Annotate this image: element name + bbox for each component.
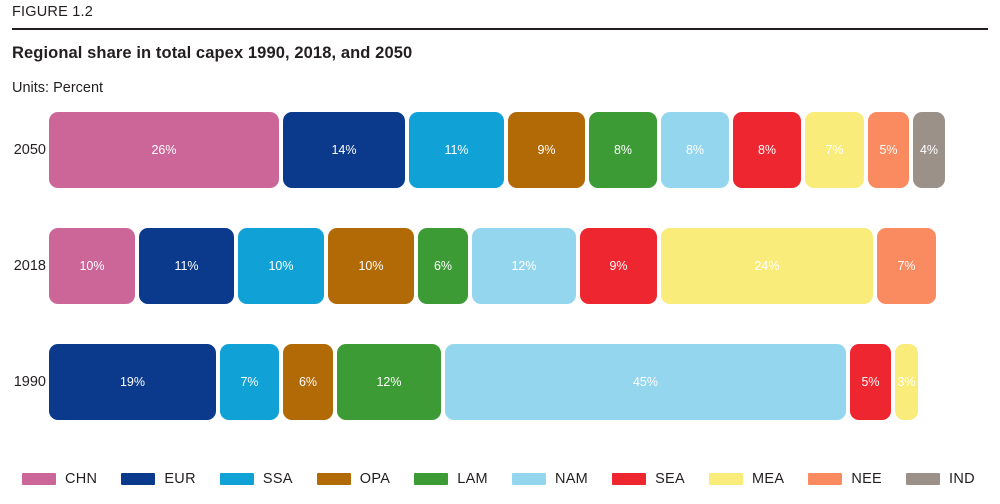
legend-label: NAM — [555, 471, 588, 487]
bar-segment-eur: 11% — [139, 228, 234, 304]
legend-swatch-icon — [808, 473, 842, 485]
legend-label: CHN — [65, 471, 97, 487]
legend-swatch-icon — [121, 473, 155, 485]
legend-label: SEA — [655, 471, 685, 487]
units-label: Units: Percent — [12, 80, 103, 96]
bar-segment-value: 12% — [376, 375, 401, 389]
legend-item-ssa[interactable]: SSA — [220, 471, 293, 487]
legend-item-lam[interactable]: LAM — [414, 471, 488, 487]
bar-segment-value: 26% — [151, 143, 176, 157]
year-label-1990: 1990 — [8, 344, 46, 420]
bar-segment-value: 6% — [299, 375, 317, 389]
bar-segment-value: 24% — [754, 259, 779, 273]
legend-item-eur[interactable]: EUR — [121, 471, 196, 487]
bar-segment-opa: 9% — [508, 112, 585, 188]
legend-label: IND — [949, 471, 975, 487]
bar-segment-lam: 8% — [589, 112, 657, 188]
bar-segment-chn: 26% — [49, 112, 279, 188]
bar-segment-sea: 8% — [733, 112, 801, 188]
legend-item-sea[interactable]: SEA — [612, 471, 685, 487]
bar-segment-value: 14% — [331, 143, 356, 157]
bar-segment-mea: 7% — [805, 112, 864, 188]
legend-swatch-icon — [220, 473, 254, 485]
bar-segment-value: 10% — [268, 259, 293, 273]
bar-segment-ind: 4% — [913, 112, 945, 188]
bar-segment-eur: 14% — [283, 112, 405, 188]
header-divider — [12, 28, 988, 30]
bar-segment-value: 9% — [537, 143, 555, 157]
legend-label: LAM — [457, 471, 488, 487]
bar-segment-opa: 10% — [328, 228, 414, 304]
bar-segment-value: 8% — [758, 143, 776, 157]
bar-segment-value: 7% — [825, 143, 843, 157]
bar-segment-value: 12% — [511, 259, 536, 273]
bar-segment-value: 8% — [686, 143, 704, 157]
bar-segments-1990: 19%7%6%12%45%5%3% — [49, 344, 922, 420]
bar-segment-nam: 8% — [661, 112, 729, 188]
bar-segment-value: 7% — [897, 259, 915, 273]
bar-segment-value: 7% — [240, 375, 258, 389]
legend-item-nam[interactable]: NAM — [512, 471, 588, 487]
bar-segment-nam: 12% — [472, 228, 576, 304]
legend-swatch-icon — [612, 473, 646, 485]
legend-item-mea[interactable]: MEA — [709, 471, 784, 487]
bar-segment-value: 5% — [879, 143, 897, 157]
bar-segment-nam: 45% — [445, 344, 846, 420]
bar-row: 2018 10%11%10%10%6%12%9%24%7% — [0, 228, 1000, 304]
legend-label: MEA — [752, 471, 784, 487]
bar-segment-value: 5% — [861, 375, 879, 389]
bar-segment-value: 11% — [174, 259, 198, 273]
year-label-2018: 2018 — [8, 228, 46, 304]
legend-swatch-icon — [512, 473, 546, 485]
legend-item-nee[interactable]: NEE — [808, 471, 882, 487]
bar-segment-value: 6% — [434, 259, 452, 273]
bar-segment-eur: 19% — [49, 344, 216, 420]
legend-swatch-icon — [414, 473, 448, 485]
bar-segment-ssa: 7% — [220, 344, 279, 420]
bar-segment-value: 10% — [358, 259, 383, 273]
bar-row: 1990 19%7%6%12%45%5%3% — [0, 344, 1000, 420]
bar-segment-mea: 3% — [895, 344, 918, 420]
bar-segment-lam: 6% — [418, 228, 468, 304]
bar-segment-ssa: 10% — [238, 228, 324, 304]
year-label-2050: 2050 — [8, 112, 46, 188]
bar-row: 2050 26%14%11%9%8%8%8%7%5%4% — [0, 112, 1000, 188]
bar-segment-sea: 9% — [580, 228, 657, 304]
legend-item-chn[interactable]: CHN — [22, 471, 97, 487]
legend-swatch-icon — [22, 473, 56, 485]
bar-segment-value: 3% — [897, 375, 915, 389]
bar-segment-value: 9% — [609, 259, 627, 273]
legend-item-opa[interactable]: OPA — [317, 471, 390, 487]
bar-segment-mea: 24% — [661, 228, 873, 304]
legend-swatch-icon — [317, 473, 351, 485]
legend-label: NEE — [851, 471, 882, 487]
legend-label: SSA — [263, 471, 293, 487]
legend-label: OPA — [360, 471, 390, 487]
page-title: Regional share in total capex 1990, 2018… — [12, 44, 412, 63]
bar-segment-value: 19% — [120, 375, 145, 389]
chart-plot-area: 2050 26%14%11%9%8%8%8%7%5%4% 2018 10%11%… — [0, 104, 1000, 444]
bar-segment-opa: 6% — [283, 344, 333, 420]
legend-item-ind[interactable]: IND — [906, 471, 975, 487]
bar-segment-nee: 5% — [868, 112, 909, 188]
legend-swatch-icon — [906, 473, 940, 485]
bar-segment-value: 11% — [444, 143, 468, 157]
bar-segment-sea: 5% — [850, 344, 891, 420]
bar-segments-2018: 10%11%10%10%6%12%9%24%7% — [49, 228, 940, 304]
bar-segment-ssa: 11% — [409, 112, 504, 188]
legend-swatch-icon — [709, 473, 743, 485]
bar-segment-value: 10% — [79, 259, 104, 273]
bar-segment-value: 45% — [633, 375, 658, 389]
bar-segment-nee: 7% — [877, 228, 936, 304]
legend-label: EUR — [164, 471, 196, 487]
bar-segment-lam: 12% — [337, 344, 441, 420]
chart-legend: CHNEURSSAOPALAMNAMSEAMEANEEIND — [0, 462, 1000, 496]
bar-segment-chn: 10% — [49, 228, 135, 304]
bar-segments-2050: 26%14%11%9%8%8%8%7%5%4% — [49, 112, 949, 188]
bar-segment-value: 4% — [920, 143, 938, 157]
figure-label: FIGURE 1.2 — [12, 4, 93, 20]
bar-segment-value: 8% — [614, 143, 632, 157]
